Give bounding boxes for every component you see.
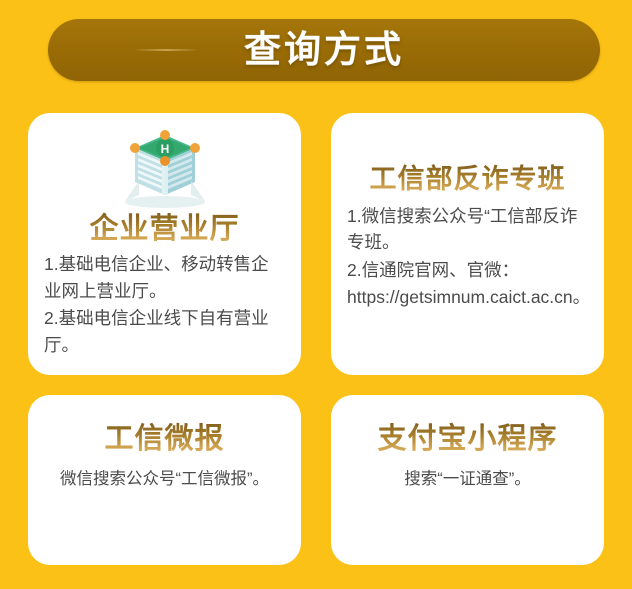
card-title: 工信部反诈专班: [347, 163, 588, 197]
card-enterprise-hall[interactable]: H: [28, 113, 301, 375]
card-alipay-miniprogram[interactable]: 支付宝小程序 搜索“一证通查”。: [331, 395, 604, 565]
card-body-line: 1.微信搜索公众号“工信部反诈专班。: [347, 203, 588, 256]
card-body-line: 微信搜索公众号“工信微报”。: [44, 467, 285, 492]
svg-text:H: H: [160, 142, 169, 156]
card-body-line: 2.基础电信企业线下自有营业厅。: [44, 305, 285, 358]
card-miit-anti-fraud[interactable]: 工信部反诈专班 1.微信搜索公众号“工信部反诈专班。 2.信通院官网、官微：ht…: [331, 113, 604, 375]
card-title: 支付宝小程序: [347, 421, 588, 457]
card-body-line-url[interactable]: 2.信通院官网、官微：https://getsimnum.caict.ac.cn…: [347, 257, 588, 310]
poster-root: 查询方式 H: [0, 0, 632, 589]
card-title: 企业营业厅: [44, 211, 285, 247]
page-title: 查询方式: [48, 19, 600, 81]
header-banner: 查询方式: [48, 19, 600, 81]
card-body: 1.微信搜索公众号“工信部反诈专班。 2.信通院官网、官微：https://ge…: [347, 203, 588, 310]
office-building-svg: H: [119, 129, 211, 209]
card-body-line: 1.基础电信企业、移动转售企业网上营业厅。: [44, 251, 285, 304]
office-building-icon: H: [44, 127, 285, 209]
card-miit-weibao[interactable]: 工信微报 微信搜索公众号“工信微报”。: [28, 395, 301, 565]
card-title: 工信微报: [44, 421, 285, 457]
card-grid: H: [28, 113, 604, 565]
card-body: 搜索“一证通查”。: [347, 467, 588, 492]
card-body: 1.基础电信企业、移动转售企业网上营业厅。 2.基础电信企业线下自有营业厅。: [44, 251, 285, 358]
card-body-line: 搜索“一证通查”。: [347, 467, 588, 492]
card-body: 微信搜索公众号“工信微报”。: [44, 467, 285, 492]
